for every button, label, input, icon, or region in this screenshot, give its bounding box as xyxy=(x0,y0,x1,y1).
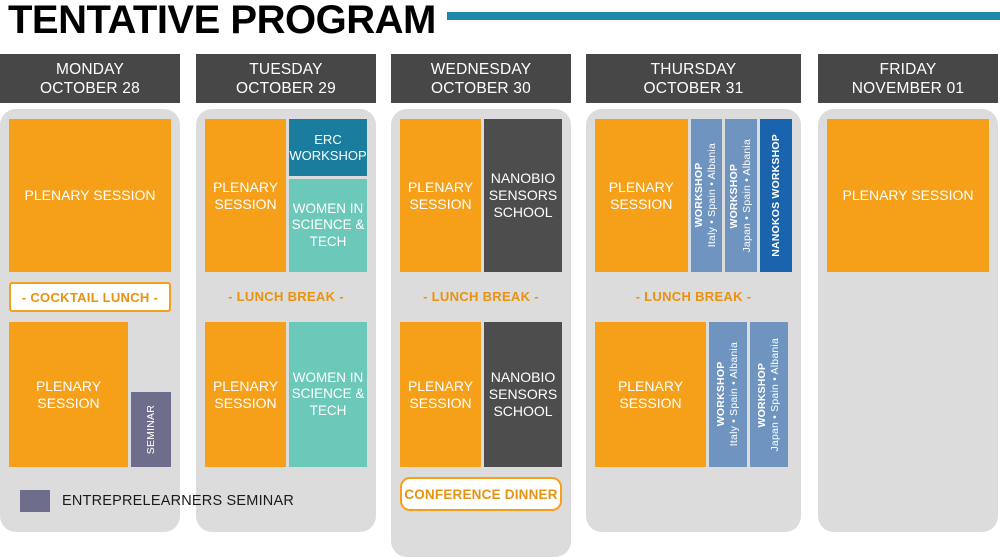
nanokos-workshop-label: NANOKOS WORKSHOP xyxy=(770,134,783,257)
thursday-workshop-japan-spain-albania-morning[interactable]: WORKSHOP Japan • Spain • Albania xyxy=(725,119,757,272)
thursday-afternoon-row: PLENARY SESSION WORKSHOP Italy • Spain •… xyxy=(595,322,792,467)
wednesday-lunch-break: - LUNCH BREAK - xyxy=(400,289,562,304)
thursday-plenary-session-afternoon[interactable]: PLENARY SESSION xyxy=(595,322,706,467)
day-header-weekday: FRIDAY xyxy=(818,60,998,79)
legend-label-entreprelearners-seminar: ENTREPRELEARNERS SEMINAR xyxy=(62,493,294,509)
monday-cocktail-lunch: - COCKTAIL LUNCH - xyxy=(9,282,171,312)
tuesday-afternoon-row: PLENARY SESSION WOMEN IN SCIENCE & TECH xyxy=(205,322,367,467)
day-header-weekday: MONDAY xyxy=(0,60,180,79)
wednesday-nanobio-sensors-school-morning[interactable]: NANOBIO SENSORS SCHOOL xyxy=(484,119,562,272)
tuesday-plenary-session-morning[interactable]: PLENARY SESSION xyxy=(205,119,286,272)
thursday-morning-row: PLENARY SESSION WORKSHOP Italy • Spain •… xyxy=(595,119,792,272)
tuesday-morning-row: PLENARY SESSION ERC WORKSHOP WOMEN IN SC… xyxy=(205,119,367,272)
wednesday-morning-row: PLENARY SESSION NANOBIO SENSORS SCHOOL xyxy=(400,119,562,272)
tuesday-lunch-break: - LUNCH BREAK - xyxy=(205,289,367,304)
day-header-tuesday: TUESDAY OCTOBER 29 xyxy=(196,54,376,103)
day-card-wednesday: PLENARY SESSION NANOBIO SENSORS SCHOOL -… xyxy=(391,109,571,557)
day-header-date: OCTOBER 29 xyxy=(196,79,376,98)
workshop-label: WORKSHOP Italy • Spain • Albania xyxy=(693,143,719,247)
day-header-monday: MONDAY OCTOBER 28 xyxy=(0,54,180,103)
title-bar: TENTATIVE PROGRAM xyxy=(0,0,1000,46)
wednesday-plenary-session-afternoon[interactable]: PLENARY SESSION xyxy=(400,322,481,467)
monday-morning-row: PLENARY SESSION xyxy=(9,119,171,272)
wednesday-nanobio-sensors-school-afternoon[interactable]: NANOBIO SENSORS SCHOOL xyxy=(484,322,562,467)
tuesday-women-in-science-morning[interactable]: WOMEN IN SCIENCE & TECH xyxy=(289,179,367,272)
tuesday-erc-workshop[interactable]: ERC WORKSHOP xyxy=(289,119,367,176)
friday-morning-row: PLENARY SESSION xyxy=(827,119,989,272)
day-header-date: NOVEMBER 01 xyxy=(818,79,998,98)
day-header-weekday: THURSDAY xyxy=(586,60,801,79)
tuesday-morning-parallel-tracks: ERC WORKSHOP WOMEN IN SCIENCE & TECH xyxy=(289,119,367,272)
thursday-workshop-italy-spain-albania-afternoon[interactable]: WORKSHOP Italy • Spain • Albania xyxy=(709,322,747,467)
workshop-label: WORKSHOP Japan • Spain • Albania xyxy=(756,338,782,452)
seminar-label: SEMINAR xyxy=(145,405,158,454)
thursday-lunch-break: - LUNCH BREAK - xyxy=(595,289,792,304)
day-card-friday: PLENARY SESSION xyxy=(818,109,998,532)
tuesday-women-in-science-afternoon[interactable]: WOMEN IN SCIENCE & TECH xyxy=(289,322,367,467)
day-header-date: OCTOBER 28 xyxy=(0,79,180,98)
day-card-tuesday: PLENARY SESSION ERC WORKSHOP WOMEN IN SC… xyxy=(196,109,376,532)
day-card-monday: PLENARY SESSION - COCKTAIL LUNCH - PLENA… xyxy=(0,109,180,532)
thursday-workshop-italy-spain-albania-morning[interactable]: WORKSHOP Italy • Spain • Albania xyxy=(691,119,723,272)
wednesday-conference-dinner[interactable]: CONFERENCE DINNER xyxy=(400,477,562,511)
thursday-nanokos-workshop[interactable]: NANOKOS WORKSHOP xyxy=(760,119,792,272)
title-accent-rule xyxy=(447,12,1000,20)
wednesday-afternoon-row: PLENARY SESSION NANOBIO SENSORS SCHOOL xyxy=(400,322,562,467)
legend: ENTREPRELEARNERS SEMINAR xyxy=(20,490,294,512)
monday-plenary-session-morning[interactable]: PLENARY SESSION xyxy=(9,119,171,272)
day-header-wednesday: WEDNESDAY OCTOBER 30 xyxy=(391,54,571,103)
monday-plenary-session-afternoon[interactable]: PLENARY SESSION xyxy=(9,322,128,467)
thursday-workshop-japan-spain-albania-afternoon[interactable]: WORKSHOP Japan • Spain • Albania xyxy=(750,322,788,467)
day-header-date: OCTOBER 31 xyxy=(586,79,801,98)
tuesday-plenary-session-afternoon[interactable]: PLENARY SESSION xyxy=(205,322,286,467)
day-header-weekday: WEDNESDAY xyxy=(391,60,571,79)
page-title: TENTATIVE PROGRAM xyxy=(8,0,436,43)
thursday-plenary-session-morning[interactable]: PLENARY SESSION xyxy=(595,119,688,272)
day-header-date: OCTOBER 30 xyxy=(391,79,571,98)
legend-swatch-entreprelearners-seminar xyxy=(20,490,50,512)
day-card-thursday: PLENARY SESSION WORKSHOP Italy • Spain •… xyxy=(586,109,801,532)
workshop-label: WORKSHOP Italy • Spain • Albania xyxy=(715,342,741,446)
day-header-weekday: TUESDAY xyxy=(196,60,376,79)
day-header-friday: FRIDAY NOVEMBER 01 xyxy=(818,54,998,103)
day-header-thursday: THURSDAY OCTOBER 31 xyxy=(586,54,801,103)
schedule-grid: MONDAY OCTOBER 28 PLENARY SESSION - COCK… xyxy=(0,54,1000,484)
monday-afternoon-row: PLENARY SESSION SEMINAR xyxy=(9,322,171,467)
wednesday-plenary-session-morning[interactable]: PLENARY SESSION xyxy=(400,119,481,272)
workshop-label: WORKSHOP Japan • Spain • Albania xyxy=(728,139,754,253)
friday-plenary-session-morning[interactable]: PLENARY SESSION xyxy=(827,119,989,272)
monday-entreprelearners-seminar[interactable]: SEMINAR xyxy=(131,392,171,467)
